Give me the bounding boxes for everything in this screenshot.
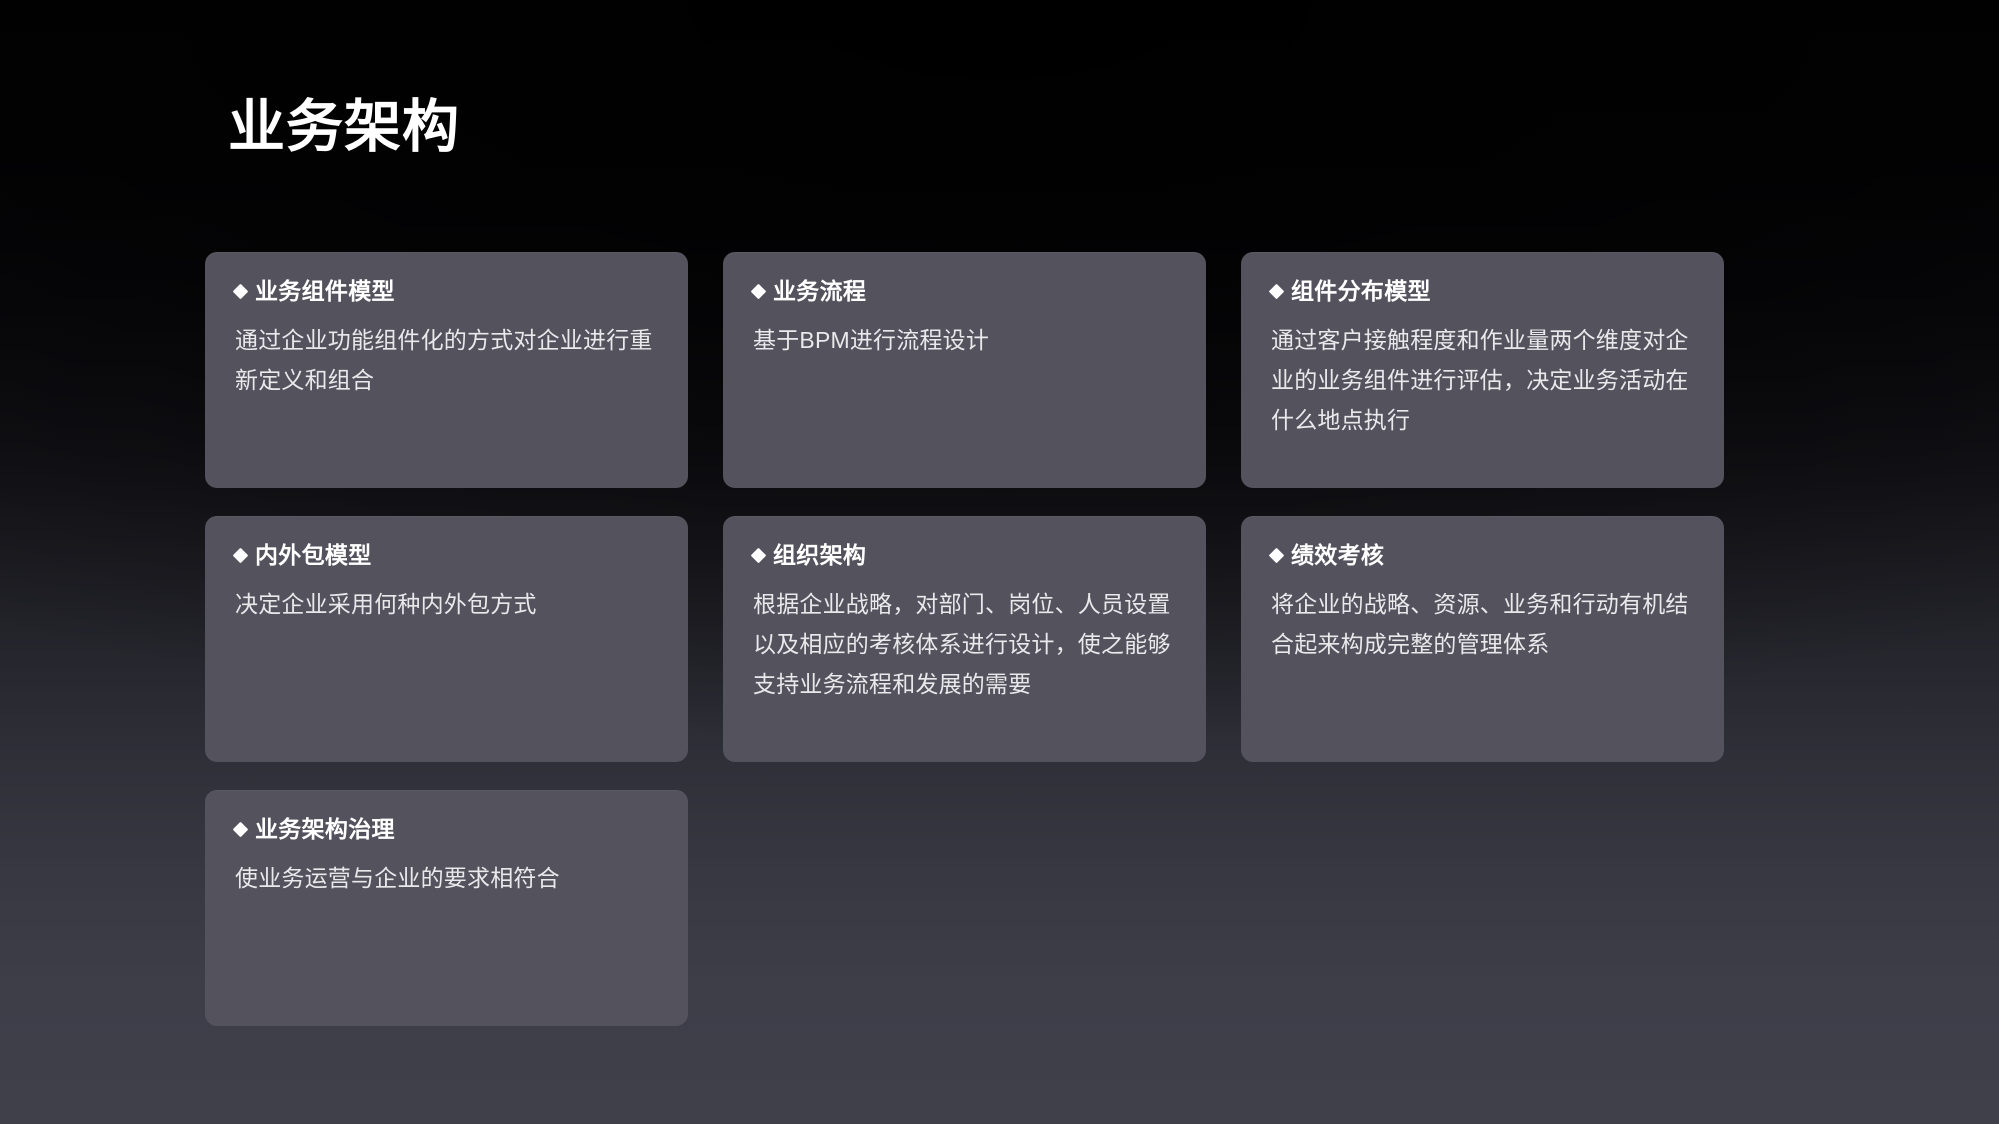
card-business-architecture-governance[interactable]: 业务架构治理 使业务运营与企业的要求相符合	[205, 790, 688, 1026]
card-body: 通过企业功能组件化的方式对企业进行重新定义和组合	[235, 320, 658, 400]
card-body: 根据企业战略，对部门、岗位、人员设置以及相应的考核体系进行设计，使之能够支持业务…	[753, 584, 1176, 704]
card-header: 内外包模型	[235, 542, 658, 570]
diamond-icon	[751, 548, 767, 564]
diamond-icon	[233, 822, 249, 838]
card-title: 组件分布模型	[1291, 278, 1431, 306]
card-header: 组织架构	[753, 542, 1176, 570]
card-business-process[interactable]: 业务流程 基于BPM进行流程设计	[723, 252, 1206, 488]
diamond-icon	[751, 284, 767, 300]
card-insourcing-outsourcing-model[interactable]: 内外包模型 决定企业采用何种内外包方式	[205, 516, 688, 762]
card-header: 业务架构治理	[235, 816, 658, 844]
card-body: 基于BPM进行流程设计	[753, 320, 1176, 360]
card-business-component-model[interactable]: 业务组件模型 通过企业功能组件化的方式对企业进行重新定义和组合	[205, 252, 688, 488]
page-title: 业务架构	[228, 96, 460, 160]
card-title: 绩效考核	[1291, 542, 1384, 570]
card-header: 绩效考核	[1271, 542, 1694, 570]
card-body: 使业务运营与企业的要求相符合	[235, 858, 658, 898]
card-grid: 业务组件模型 通过企业功能组件化的方式对企业进行重新定义和组合 业务流程 基于B…	[205, 252, 1725, 1026]
card-body: 通过客户接触程度和作业量两个维度对企业的业务组件进行评估，决定业务活动在什么地点…	[1271, 320, 1694, 440]
card-title: 业务架构治理	[255, 816, 395, 844]
card-title: 内外包模型	[255, 542, 372, 570]
card-title: 业务流程	[773, 278, 866, 306]
diamond-icon	[233, 548, 249, 564]
diamond-icon	[233, 284, 249, 300]
card-performance-evaluation[interactable]: 绩效考核 将企业的战略、资源、业务和行动有机结合起来构成完整的管理体系	[1241, 516, 1724, 762]
card-title: 组织架构	[773, 542, 866, 570]
diamond-icon	[1269, 548, 1285, 564]
card-header: 业务流程	[753, 278, 1176, 306]
card-body: 将企业的战略、资源、业务和行动有机结合起来构成完整的管理体系	[1271, 584, 1694, 664]
card-body: 决定企业采用何种内外包方式	[235, 584, 658, 624]
card-header: 业务组件模型	[235, 278, 658, 306]
card-organizational-structure[interactable]: 组织架构 根据企业战略，对部门、岗位、人员设置以及相应的考核体系进行设计，使之能…	[723, 516, 1206, 762]
card-component-distribution-model[interactable]: 组件分布模型 通过客户接触程度和作业量两个维度对企业的业务组件进行评估，决定业务…	[1241, 252, 1724, 488]
card-header: 组件分布模型	[1271, 278, 1694, 306]
diamond-icon	[1269, 284, 1285, 300]
card-title: 业务组件模型	[255, 278, 395, 306]
slide-canvas: 业务架构 业务组件模型 通过企业功能组件化的方式对企业进行重新定义和组合 业务流…	[0, 0, 1999, 1124]
